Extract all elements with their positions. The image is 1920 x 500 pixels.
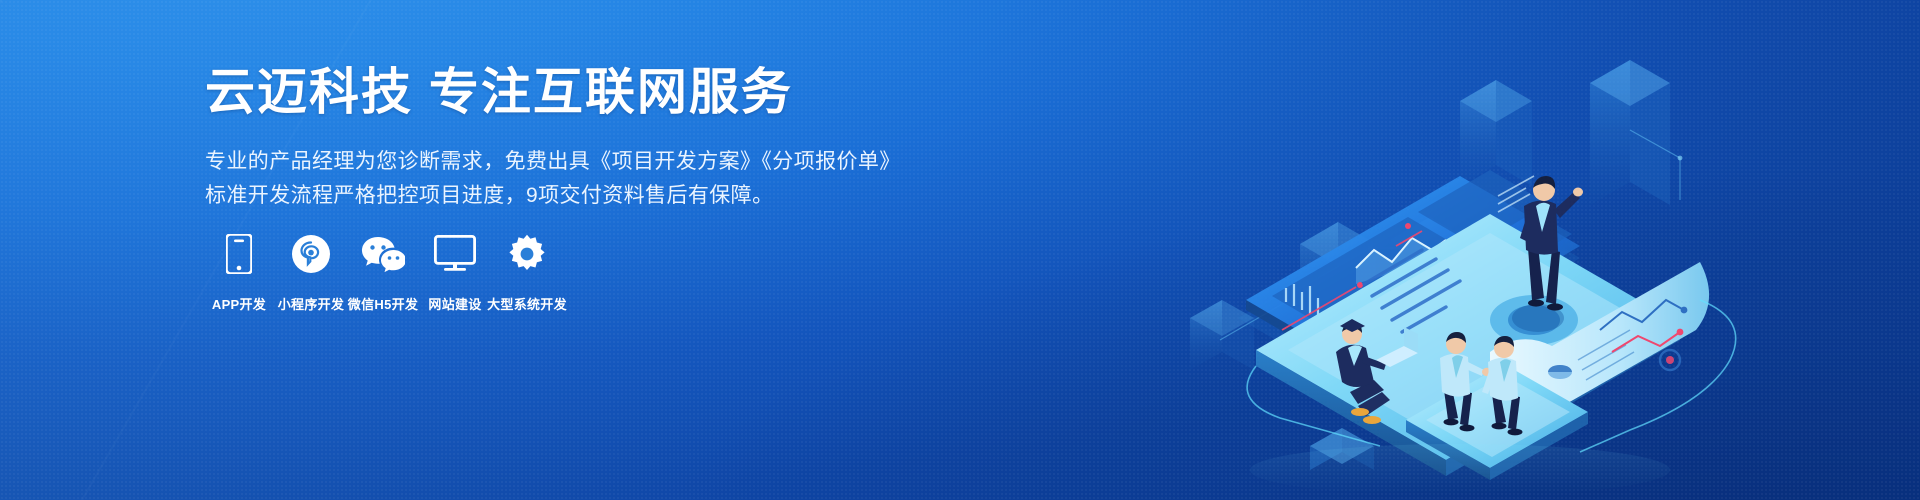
hero-subtitle: 专业的产品经理为您诊断需求，免费出具《项目开发方案》《分项报价单》 标准开发流程… xyxy=(205,145,905,213)
data-chart-sheet xyxy=(1490,262,1709,412)
hero-banner: 云迈科技 专注互联网服务 专业的产品经理为您诊断需求，免费出具《项目开发方案》《… xyxy=(0,0,1920,500)
sitting-person-laptop xyxy=(1336,319,1418,424)
subtitle-line-1: 专业的产品经理为您诊断需求，免费出具《项目开发方案》《分项报价单》 xyxy=(205,150,901,173)
service-item-mini-program[interactable]: 小程序开发 xyxy=(275,232,347,313)
service-item-wechat-h5[interactable]: 微信H5开发 xyxy=(347,232,419,313)
service-item-app[interactable]: APP开发 xyxy=(203,232,275,313)
service-label: 小程序开发 xyxy=(278,294,345,313)
service-label: 网站建设 xyxy=(428,294,481,313)
service-item-large-system[interactable]: 大型系统开发 xyxy=(491,232,563,313)
wechat-chat-icon xyxy=(361,232,405,276)
circuit-nodes xyxy=(1308,156,1683,351)
phone-platform xyxy=(1406,364,1588,480)
tablet-platform xyxy=(1256,214,1680,476)
service-label: APP开发 xyxy=(212,294,266,313)
glow-connector xyxy=(1247,300,1736,452)
dashboard-screen xyxy=(1238,170,1580,388)
gear-icon xyxy=(507,232,547,276)
desktop-monitor-icon xyxy=(434,232,476,276)
server-stack xyxy=(1390,217,1470,341)
city-buildings xyxy=(1190,0,1670,470)
standing-person-pointing xyxy=(1512,176,1583,332)
page-title: 云迈科技 专注互联网服务 xyxy=(205,62,905,123)
circuit-lines xyxy=(1220,130,1680,400)
mobile-phone-icon xyxy=(226,232,252,276)
subtitle-line-2: 标准开发流程严格把控项目进度，9项交付资料售后有保障。 xyxy=(205,179,905,213)
service-list: APP开发 小程序开发 xyxy=(203,232,563,313)
service-label: 大型系统开发 xyxy=(487,294,567,313)
service-item-website[interactable]: 网站建设 xyxy=(419,232,491,313)
mini-program-icon xyxy=(291,232,331,276)
isometric-data-platform-illustration xyxy=(1160,0,1920,500)
two-people-talking xyxy=(1440,332,1523,435)
hero-copy: 云迈科技 专注互联网服务 专业的产品经理为您诊断需求，免费出具《项目开发方案》《… xyxy=(205,62,905,213)
service-label: 微信H5开发 xyxy=(348,294,418,313)
